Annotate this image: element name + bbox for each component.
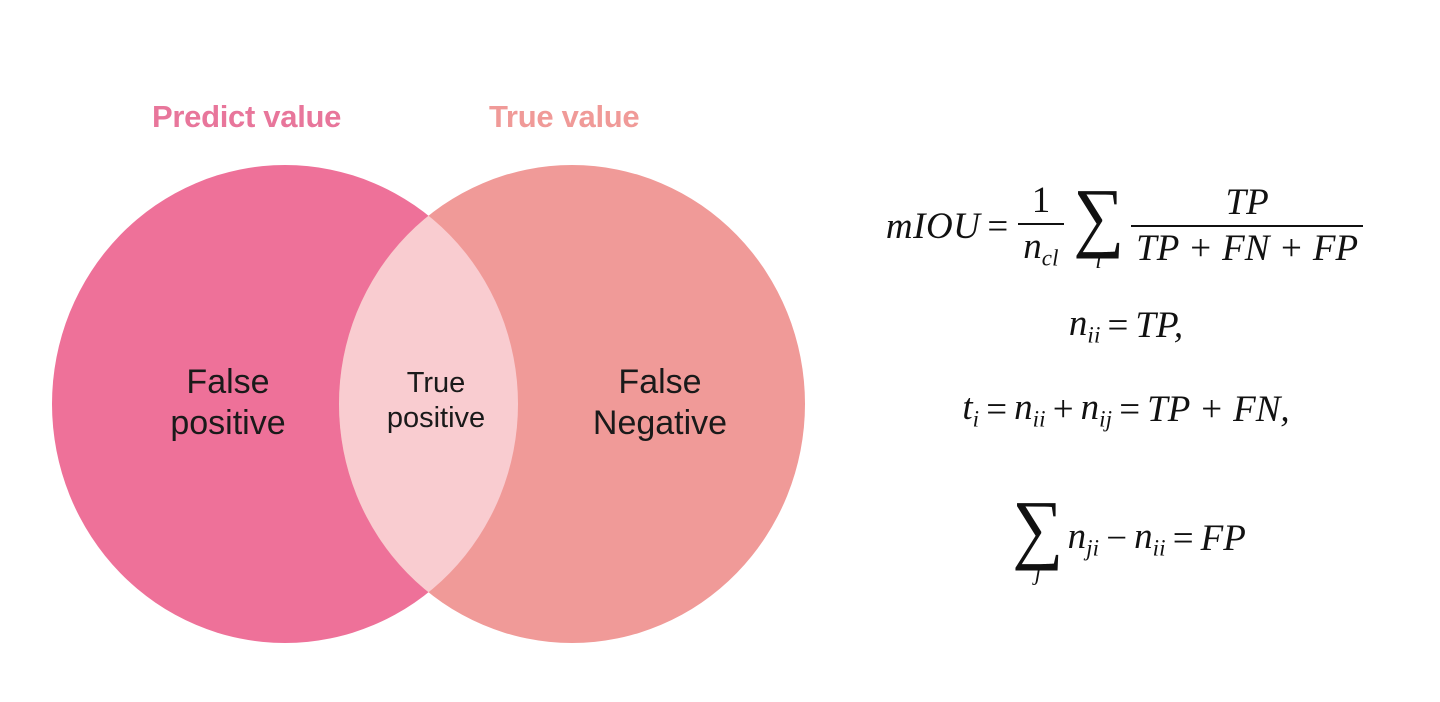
formula-nii-equals: = — [1101, 304, 1136, 347]
formula-miou-ratio-numerator: TP — [1221, 184, 1274, 225]
false-positive-label-line2: positive — [108, 403, 348, 444]
formula-ti-term-2: nij — [1081, 386, 1113, 432]
formula-miou: mIOU = 1 ncl ∑ i TP TP + FN + FP — [812, 168, 1440, 284]
false-negative-label: False Negative — [540, 362, 780, 445]
formula-sum-fp-term-1-base: n — [1068, 516, 1087, 557]
formula-miou-ratio-denominator: TP + FN + FP — [1131, 225, 1363, 269]
formula-nii: nii = TP, — [812, 296, 1440, 354]
formula-sum-fp: ∑ j nji − nii = FP — [812, 480, 1440, 596]
formula-ti: ti = nii + nij = TP + FN, — [812, 380, 1440, 438]
formula-sum-fp-term-2-base: n — [1134, 516, 1153, 557]
true-positive-label-line1: True — [355, 366, 517, 401]
formula-miou-denominator: ncl — [1018, 223, 1063, 270]
false-negative-label-line1: False — [540, 362, 780, 403]
venn-diagram-panel: Predict value True value False positive … — [0, 0, 830, 702]
true-positive-label-line2: positive — [355, 401, 517, 436]
venn-diagram-svg — [0, 0, 830, 702]
formula-ti-term-2-base: n — [1081, 387, 1100, 428]
sigma-icon: ∑ — [1073, 181, 1124, 252]
formula-ti-equals-2: = — [1112, 388, 1147, 431]
formula-sum-fp-summation: ∑ j — [1010, 493, 1065, 584]
formula-ti-term-1: nii — [1014, 386, 1046, 432]
formula-sum-fp-term-1: nji — [1068, 515, 1100, 561]
formula-ti-lhs-base: t — [962, 387, 972, 428]
formula-ti-plus: + — [1046, 388, 1081, 431]
formula-sum-fp-term-2-sub: ii — [1153, 535, 1166, 560]
formula-sum-fp-minus: − — [1099, 517, 1134, 560]
sigma-icon: ∑ — [1012, 493, 1063, 564]
formula-sum-fp-rhs: FP — [1201, 517, 1246, 560]
false-positive-label-line1: False — [108, 362, 348, 403]
true-positive-label: True positive — [355, 366, 517, 437]
formula-ti-term-1-base: n — [1014, 387, 1033, 428]
formula-panel: mIOU = 1 ncl ∑ i TP TP + FN + FP nii = T… — [812, 0, 1440, 702]
formula-ti-term-2-sub: ij — [1099, 406, 1112, 431]
formula-miou-numerator: 1 — [1027, 182, 1056, 223]
formula-nii-lhs-sub: ii — [1087, 322, 1100, 347]
formula-sum-fp-term-2: nii — [1134, 515, 1166, 561]
formula-miou-denominator-base: n — [1023, 226, 1042, 267]
formula-miou-prefactor: 1 ncl — [1018, 182, 1063, 270]
formula-ti-term-1-sub: ii — [1033, 406, 1046, 431]
formula-sum-fp-equals: = — [1166, 517, 1201, 560]
formula-nii-lhs: nii — [1069, 302, 1101, 348]
formula-ti-lhs-sub: i — [973, 406, 980, 431]
formula-nii-rhs: TP, — [1135, 304, 1183, 347]
formula-miou-lhs: mIOU — [886, 205, 980, 248]
formula-miou-ratio: TP TP + FN + FP — [1131, 184, 1363, 269]
false-positive-label: False positive — [108, 362, 348, 445]
formula-ti-rhs: TP + FN, — [1147, 388, 1290, 431]
formula-miou-equals: = — [980, 205, 1015, 248]
formula-ti-equals-1: = — [979, 388, 1014, 431]
formula-nii-lhs-base: n — [1069, 303, 1088, 344]
false-negative-label-line2: Negative — [540, 403, 780, 444]
formula-miou-summation: ∑ i — [1071, 181, 1126, 272]
formula-sum-fp-term-1-sub: ji — [1086, 535, 1099, 560]
formula-ti-lhs: ti — [962, 386, 979, 432]
formula-miou-denominator-sub: cl — [1042, 245, 1059, 270]
